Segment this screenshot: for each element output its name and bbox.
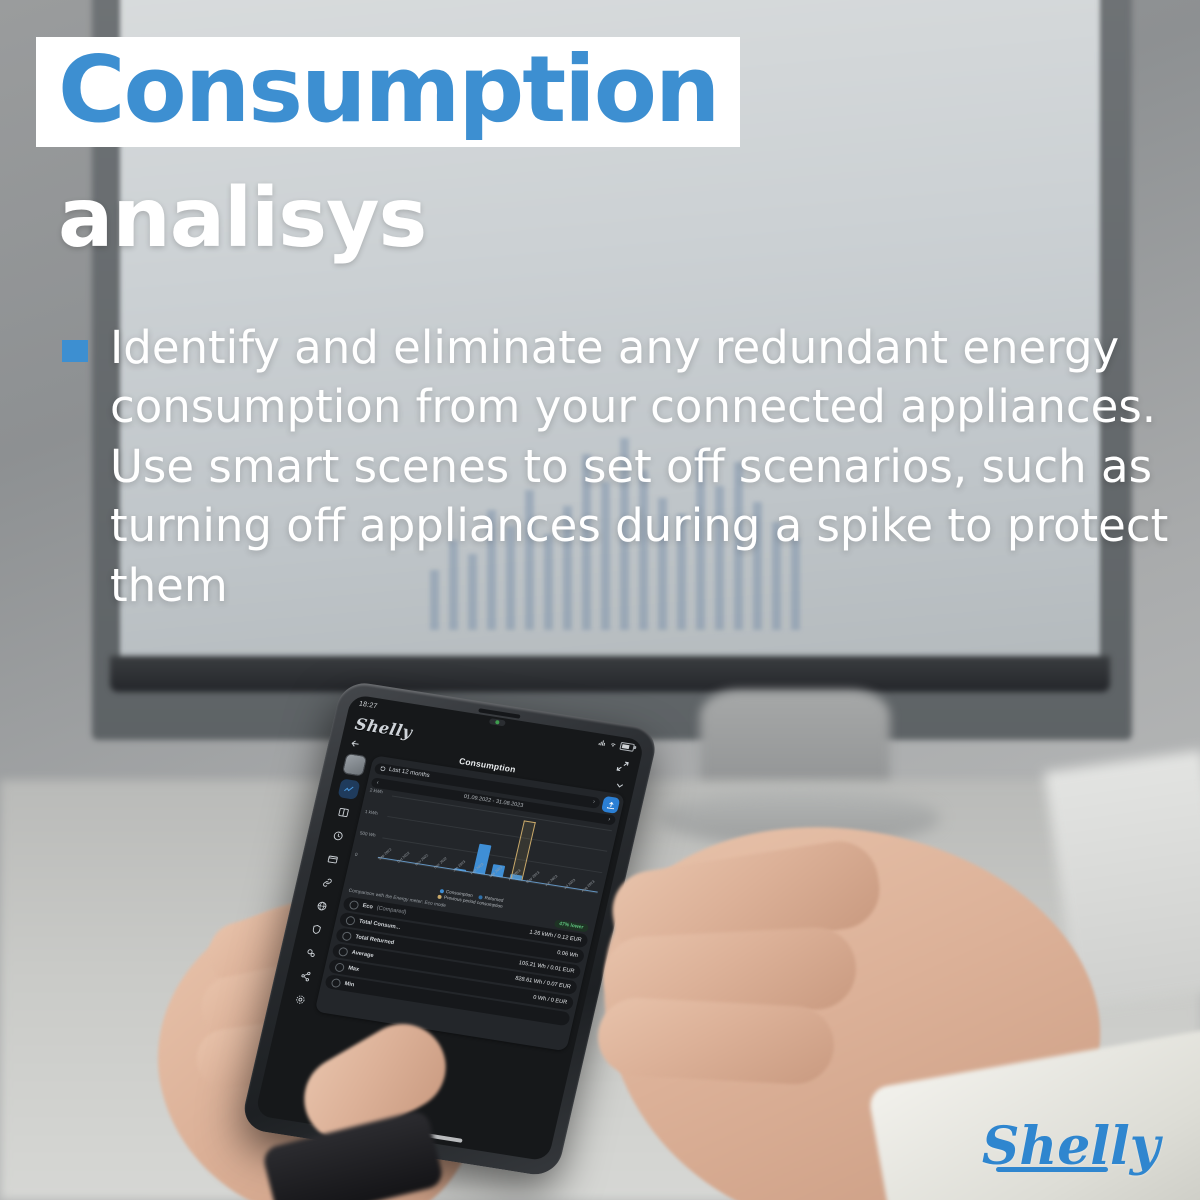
- history-icon: [379, 765, 386, 772]
- consumption-card: Last 12 months › ‹ 01.09.2022 - 31.08.20…: [315, 755, 626, 1051]
- shelly-brand-logo: Shelly: [982, 1116, 1160, 1172]
- shield-icon: [309, 923, 322, 935]
- folder-icon: [326, 853, 339, 865]
- clock-icon: [331, 830, 344, 842]
- chart-y-tick: 0: [354, 852, 358, 857]
- app-body: Last 12 months › ‹ 01.09.2022 - 31.08.20…: [280, 750, 632, 1053]
- stat-bullet-icon: [349, 900, 360, 910]
- next-period-button[interactable]: ›: [608, 817, 611, 823]
- share-icon: [299, 970, 312, 982]
- panels-icon: [336, 806, 349, 818]
- export-button[interactable]: [601, 796, 620, 814]
- title-highlight-box: Consumption: [36, 37, 740, 147]
- sidebar-item-avatar[interactable]: [341, 753, 367, 777]
- legend-color-dot: [478, 895, 483, 900]
- sidebar-item-settings[interactable]: [288, 989, 311, 1010]
- gear-icon: [293, 993, 306, 1005]
- page-title-line1: Consumption: [58, 43, 718, 137]
- sidebar-item-consumption[interactable]: [337, 778, 360, 799]
- page-title-line2: analisys: [58, 178, 426, 260]
- export-icon: [605, 800, 616, 810]
- stat-bullet-icon: [341, 931, 352, 941]
- chart-y-tick: 1 kWh: [364, 809, 378, 816]
- stat-label: Eco: [362, 903, 374, 910]
- stat-value: 0.06 Wh: [556, 950, 578, 959]
- status-indicators: [598, 738, 635, 751]
- body-paragraph: Identify and eliminate any redundant ene…: [110, 318, 1170, 615]
- legend-color-dot: [438, 894, 443, 899]
- sidebar-item-rooms[interactable]: [321, 848, 344, 869]
- stat-label: Max: [347, 965, 359, 973]
- gears-icon: [304, 947, 317, 959]
- globe-icon: [315, 900, 328, 912]
- chart-y-tick: 500 Wh: [359, 830, 376, 837]
- slide-canvas: 18:27 Shelly Consumption: [0, 0, 1200, 1200]
- range-chevron-icon: ›: [592, 799, 595, 805]
- stat-bullet-icon: [345, 915, 356, 925]
- stat-value: 0 Wh / 0 EUR: [532, 995, 567, 1006]
- sidebar-item-devices[interactable]: [332, 802, 355, 823]
- sidebar-item-security[interactable]: [305, 919, 328, 940]
- stat-bullet-icon: [331, 977, 342, 987]
- sidebar-item-automation[interactable]: [299, 942, 322, 963]
- chart-icon: [342, 783, 355, 795]
- status-recording-pill: [489, 718, 506, 726]
- chevron-down-icon[interactable]: [613, 779, 626, 791]
- link-icon: [320, 876, 333, 888]
- prev-period-button[interactable]: ‹: [376, 780, 379, 786]
- battery-icon: [619, 741, 635, 751]
- stat-bullet-icon: [334, 962, 345, 972]
- stat-value: 1.26 kWh / 0.12 EUR: [529, 929, 582, 943]
- shelly-brand-text: Shelly: [982, 1116, 1160, 1177]
- stat-label: Total Consum...: [358, 919, 400, 931]
- stat-label: Min: [344, 981, 355, 988]
- stat-label: Average: [351, 950, 374, 959]
- expand-icon[interactable]: [615, 759, 630, 773]
- range-label: Last 12 months: [388, 767, 430, 779]
- stat-label: Total Returned: [355, 934, 395, 946]
- bullet-marker: [62, 340, 88, 362]
- chart-y-tick: 2 kWh: [369, 787, 383, 794]
- sidebar-item-integrations[interactable]: [315, 872, 338, 893]
- sidebar-item-share[interactable]: [294, 965, 317, 986]
- stat-sublabel: (Compared): [376, 905, 407, 916]
- sidebar-item-network[interactable]: [310, 895, 333, 916]
- sidebar-item-schedules[interactable]: [326, 825, 349, 846]
- stat-bullet-icon: [338, 946, 349, 956]
- legend-color-dot: [440, 888, 445, 893]
- signal-icon: [598, 738, 608, 747]
- wifi-icon: [609, 740, 619, 749]
- monitor-bezel: [110, 656, 1110, 692]
- status-time: 18:27: [358, 700, 378, 710]
- back-arrow-icon[interactable]: [349, 737, 362, 749]
- recording-dot-icon: [495, 720, 500, 725]
- right-finger-3: [596, 996, 836, 1086]
